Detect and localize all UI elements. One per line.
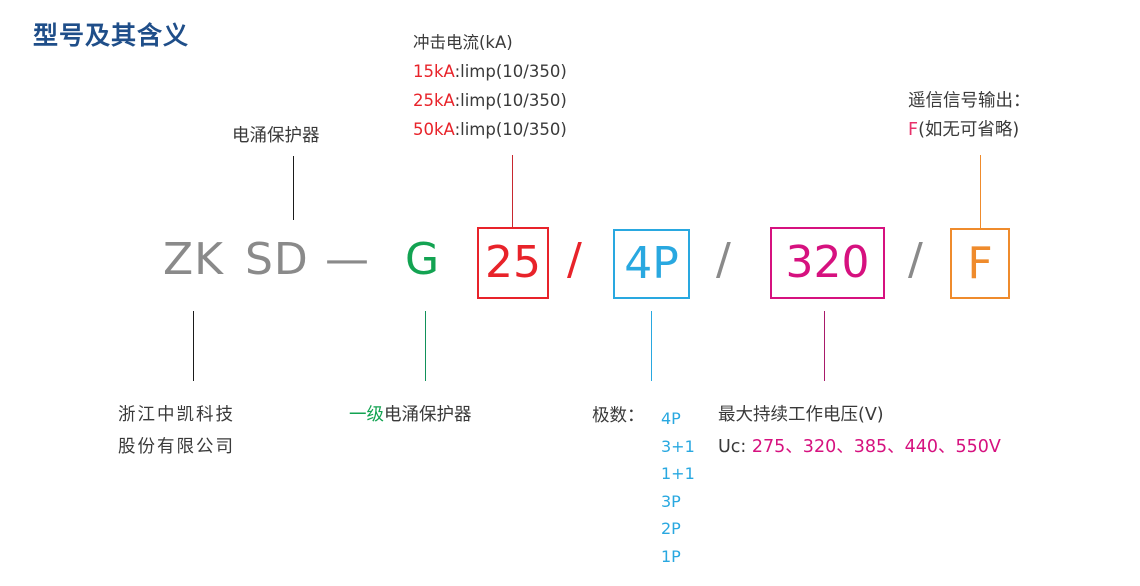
annotation-impulse-option-1: 15kA:limp(10/350) [413, 60, 567, 84]
annotation-poles-options: 4P 3+1 1+1 3P 2P 1P [661, 405, 695, 570]
model-code-brand: ZK [163, 222, 224, 298]
connector-line-impulse-current [512, 155, 513, 228]
impulse-option-2-spec: :limp(10/350) [455, 91, 567, 110]
poles-option-5: 1P [661, 543, 695, 571]
connector-line-poles [651, 311, 652, 381]
connector-line-surge-protector [293, 156, 294, 220]
connector-line-voltage [824, 311, 825, 381]
model-code-signal-value: F [967, 242, 992, 286]
model-code-slash-1: / [567, 222, 583, 298]
annotation-poles-label: 极数： [592, 404, 645, 429]
model-code-grade: G [405, 222, 440, 298]
poles-option-4: 2P [661, 515, 695, 543]
impulse-option-3-spec: :limp(10/350) [455, 120, 567, 139]
class-level-suffix: 电涌保护器 [384, 405, 472, 425]
annotation-voltage-heading: 最大持续工作电压(V) [718, 403, 884, 428]
connector-line-class-level [425, 311, 426, 381]
impulse-option-1-value: 15kA [413, 62, 455, 81]
poles-option-0: 4P [661, 405, 695, 433]
model-code-dash: — [325, 222, 370, 298]
poles-option-1: 3+1 [661, 433, 695, 461]
page-title: 型号及其含义 [33, 16, 189, 52]
annotation-surge-protector-label: 电涌保护器 [232, 124, 320, 149]
poles-option-2: 1+1 [661, 460, 695, 488]
annotation-impulse-option-3: 50kA:limp(10/350) [413, 118, 567, 142]
connector-line-company [193, 311, 194, 381]
impulse-option-1-spec: :limp(10/350) [455, 62, 567, 81]
model-code-impulse-value: 25 [485, 241, 541, 285]
connector-line-remote-signal [980, 155, 981, 228]
annotation-voltage-values-row: Uc: 275、320、385、440、550V [718, 435, 1001, 460]
annotation-impulse-option-2: 25kA:limp(10/350) [413, 89, 567, 113]
annotation-remote-signal-code-row: F(如无可省略) [908, 118, 1019, 143]
impulse-option-2-value: 25kA [413, 91, 455, 110]
model-code-slash-2: / [716, 222, 732, 298]
poles-option-3: 3P [661, 488, 695, 516]
model-code-poles-value: 4P [624, 242, 679, 286]
model-code-poles-box: 4P [613, 229, 690, 299]
model-designation-diagram: 型号及其含义 电涌保护器 冲击电流(kA) 15kA:limp(10/350) … [0, 0, 1140, 586]
class-level-prefix: 一级 [349, 405, 384, 425]
model-code-signal-box: F [950, 228, 1010, 299]
remote-signal-code: F [908, 120, 918, 140]
model-code-voltage-value: 320 [786, 241, 870, 285]
model-code-voltage-box: 320 [770, 227, 885, 299]
model-code-slash-3: / [908, 222, 924, 298]
annotation-impulse-current-heading: 冲击电流(kA) [413, 31, 513, 55]
voltage-values: 275、320、385、440、550V [752, 437, 1001, 457]
annotation-class-level: 一级电涌保护器 [349, 403, 472, 428]
voltage-prefix: Uc: [718, 437, 746, 457]
model-code-impulse-box: 25 [477, 227, 549, 299]
annotation-remote-signal-heading: 遥信信号输出： [908, 89, 1031, 114]
annotation-company-line-1: 浙江中凯科技 [118, 403, 235, 428]
remote-signal-note: (如无可省略) [918, 120, 1019, 140]
annotation-company-line-2: 股份有限公司 [118, 435, 235, 460]
model-code-series: SD [245, 222, 309, 298]
model-code-row: ZK SD — G 25 / 4P / 320 / F [0, 222, 1140, 308]
impulse-option-3-value: 50kA [413, 120, 455, 139]
